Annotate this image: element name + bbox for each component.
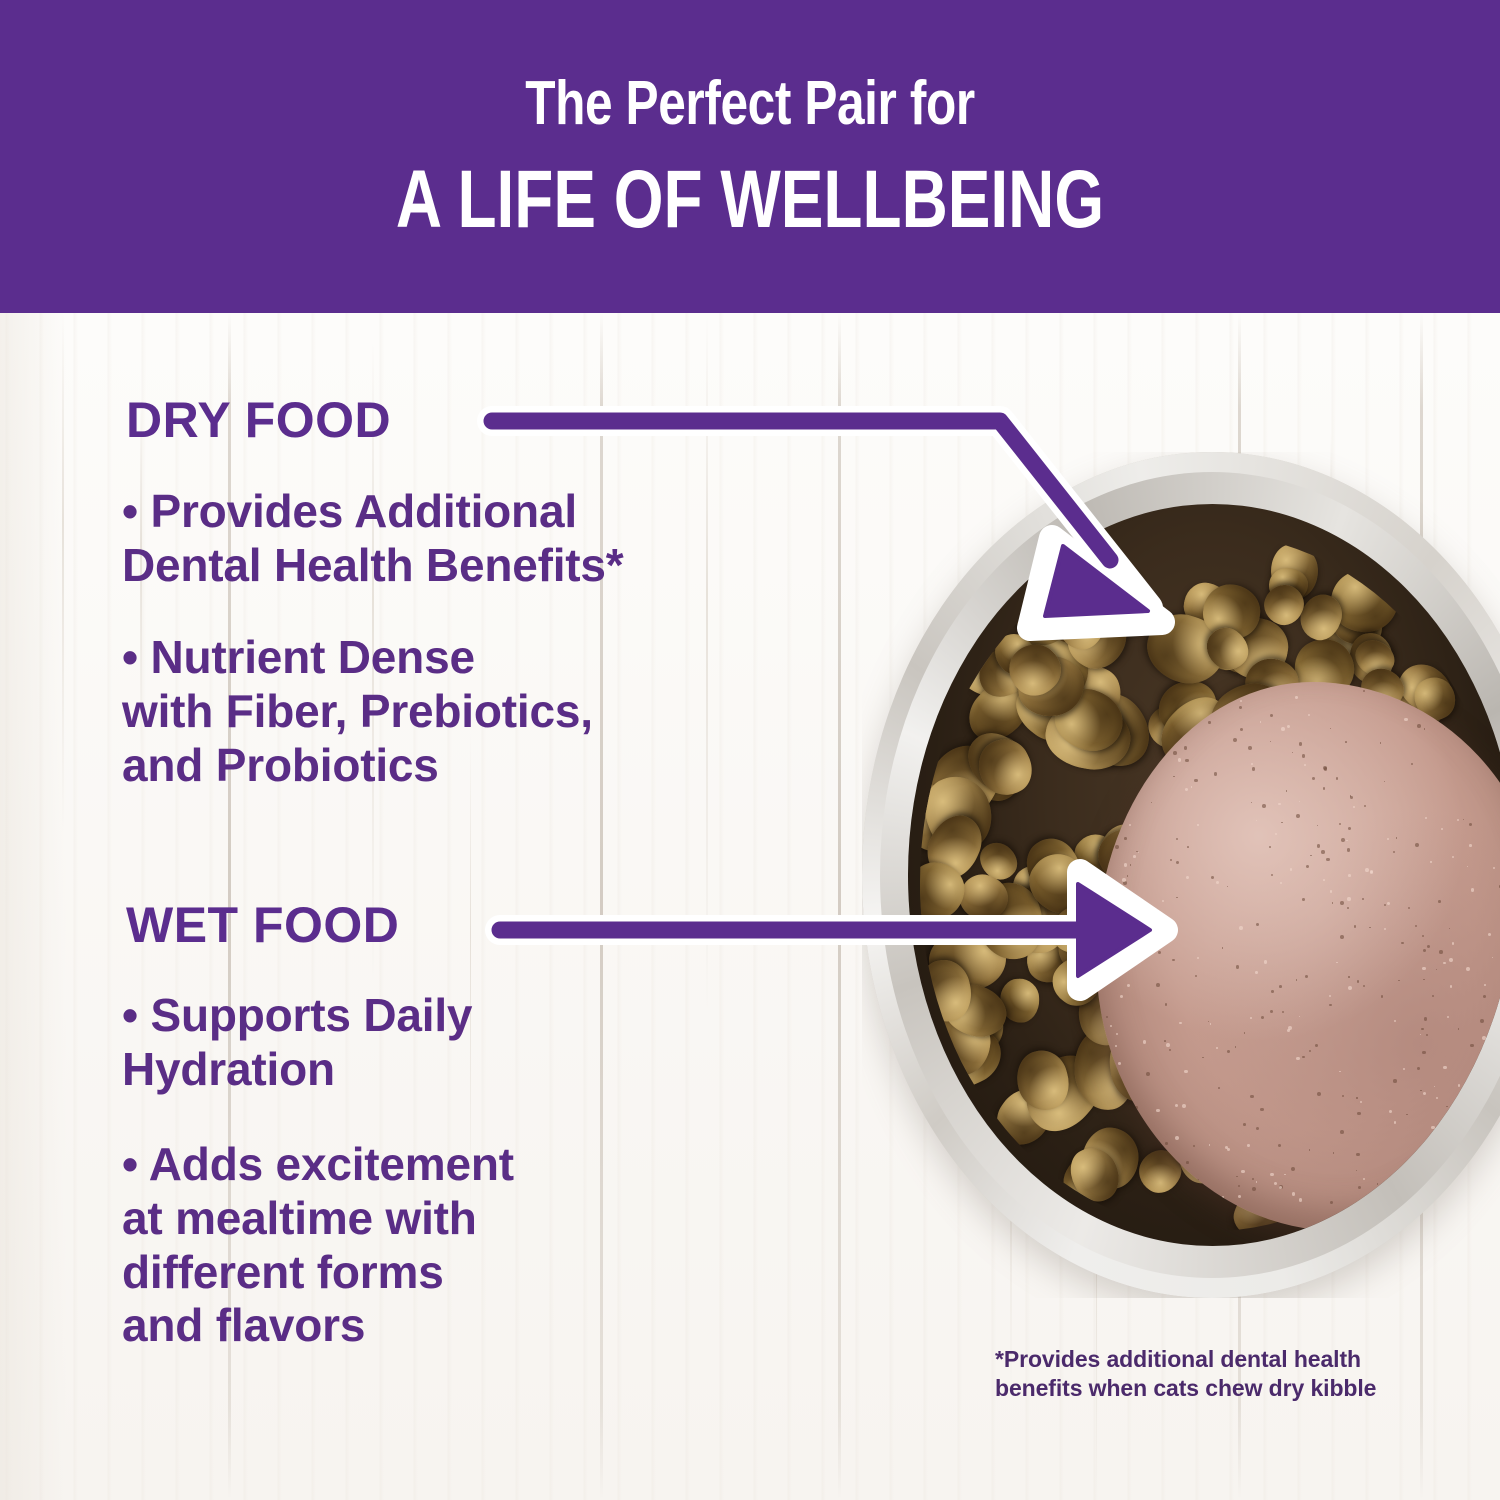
pate-texture-speck [1186,1161,1189,1164]
pate-texture-speck [1441,828,1443,830]
pate-texture-speck [1250,1017,1252,1019]
pate-texture-speck [1098,970,1100,972]
pate-texture-speck [1271,990,1274,993]
pate-texture-speck [1286,790,1288,792]
pate-texture-speck [1281,822,1282,823]
pate-texture-speck [1471,888,1475,892]
pate-texture-speck [1115,845,1119,849]
pate-texture-speck [1175,1104,1179,1108]
pate-texture-speck [1473,691,1474,692]
pate-texture-speck [1288,1026,1292,1030]
pate-texture-speck [1348,976,1349,977]
pate-texture-speck [1345,741,1347,743]
pate-texture-speck [1488,712,1491,715]
pate-texture-speck [1406,1114,1407,1115]
pate-texture-speck [1417,724,1421,728]
pate-texture-speck [1140,732,1142,734]
pate-texture-speck [1480,1190,1483,1193]
pate-texture-speck [1452,856,1454,858]
pate-texture-speck [1278,1144,1281,1147]
pate-texture-speck [1197,1179,1199,1181]
pate-texture-speck [1156,983,1160,987]
pate-texture-speck [1415,843,1419,847]
pate-texture-speck [1484,1218,1486,1220]
pate-texture-speck [1304,764,1306,766]
pate-texture-speck [1115,1045,1117,1047]
pate-texture-speck [1384,904,1386,906]
pate-texture-speck [1477,1058,1478,1059]
pate-texture-speck [1108,799,1111,802]
pate-texture-speck [1210,1023,1212,1025]
pate-texture-speck [1420,1090,1421,1091]
pate-texture-speck [1363,985,1365,987]
pate-texture-speck [1290,868,1292,870]
pate-texture-speck [1411,763,1413,765]
header-line-2: A LIFE OF WELLBEING [396,159,1104,241]
pate-texture-speck [1434,1086,1435,1087]
wet-food-bullet-2-line-2: at mealtime with [122,1192,812,1246]
pate-texture-speck [1358,1186,1361,1189]
pate-texture-speck [1164,1180,1167,1183]
pate-texture-speck [1252,767,1255,770]
pate-texture-speck [1423,1092,1427,1096]
pate-texture-speck [1132,742,1135,745]
pate-texture-speck [1425,817,1427,819]
pate-texture-speck [1341,838,1345,842]
pate-texture-speck [1315,1044,1319,1048]
wet-food-bullet-2-line-1: • Adds excitement [122,1138,812,1192]
pate-texture-speck [1480,1019,1484,1023]
pate-texture-speck [1275,833,1277,835]
pate-texture-speck [1208,1021,1210,1023]
pate-texture-speck [1443,962,1446,965]
pate-texture-speck [1364,805,1366,807]
pate-texture-speck [1306,865,1309,868]
header-line-1: The Perfect Pair for [525,73,975,135]
pate-texture-speck [1159,944,1161,946]
pate-texture-speck [1274,1182,1277,1185]
pate-texture-speck [1165,1142,1168,1145]
pate-texture-speck [1248,746,1252,750]
pate-texture-speck [1422,1051,1426,1055]
pate-texture-speck [1133,855,1136,858]
pate-texture-speck [1185,759,1189,763]
pate-texture-speck [1218,1087,1220,1089]
pate-texture-speck [1449,928,1451,930]
pate-texture-speck [1264,960,1267,963]
pate-texture-speck [1211,876,1214,879]
pate-texture-speck [1357,1112,1360,1115]
pate-texture-speck [1336,777,1339,780]
pate-texture-speck [1469,844,1472,847]
pate-texture-speck [1165,1003,1168,1006]
pate-texture-speck [1256,1181,1258,1183]
pate-texture-speck [1235,1046,1236,1047]
pate-texture-speck [1387,838,1389,840]
pate-texture-speck [1124,807,1128,811]
wet-food-bullet-2-line-4: and flavors [122,1299,812,1353]
pate-texture-speck [1176,897,1178,899]
dry-food-bullet-1-line-1: • Provides Additional [122,485,812,539]
pate-texture-speck [1492,957,1493,958]
pate-texture-speck [1111,959,1114,962]
pate-texture-speck [1369,927,1370,928]
pate-texture-speck [1158,951,1161,954]
pate-texture-speck [1423,979,1425,981]
pate-texture-speck [1299,1016,1300,1017]
pate-texture-speck [1292,752,1294,754]
pate-texture-speck [1396,837,1397,838]
pate-texture-speck [1121,729,1125,733]
pate-texture-speck [1393,851,1395,853]
pate-texture-speck [1261,1016,1264,1019]
pate-texture-speck [1252,1187,1256,1191]
pate-texture-speck [1340,901,1344,905]
section-title-wet-food: WET FOOD [126,900,399,950]
pate-texture-speck [1243,1123,1246,1126]
pate-texture-speck [1227,1050,1230,1053]
pate-texture-speck [1363,1178,1365,1180]
pate-texture-speck [1227,886,1229,888]
pate-texture-speck [1281,727,1285,731]
pate-texture-speck [1347,907,1349,909]
pate-texture-speck [1227,1148,1230,1151]
pate-texture-speck [1103,862,1105,864]
pate-texture-speck [1317,1092,1321,1096]
pate-texture-speck [1284,1174,1286,1176]
pate-texture-speck [1197,824,1198,825]
pate-texture-speck [1370,871,1373,874]
pate-texture-speck [1363,690,1365,692]
pate-texture-speck [1252,1178,1254,1180]
pate-texture-speck [1347,897,1351,901]
pate-texture-speck [1450,985,1453,988]
pate-texture-speck [1449,958,1453,962]
pate-texture-speck [1173,776,1175,778]
pate-texture-speck [1317,844,1321,848]
pate-texture-speck [1424,1017,1427,1020]
pate-texture-speck [1182,1104,1186,1108]
wet-food-bullet-2-line-3: different forms [122,1246,812,1300]
pate-texture-speck [1125,1205,1128,1208]
pate-texture-speck [1339,1071,1341,1073]
pate-texture-speck [1354,925,1356,927]
pate-texture-speck [1296,814,1300,818]
pate-texture-speck [1389,1110,1392,1113]
pate-texture-speck [1176,838,1178,840]
benefits-copy-column: DRY FOOD • Provides Additional Dental He… [0,313,860,1500]
pate-texture-speck [1455,1114,1457,1116]
pate-texture-speck [1415,925,1417,927]
dry-food-bullet-2-line-2: with Fiber, Prebiotics, [122,685,812,739]
pate-texture-speck [1175,1136,1179,1140]
pate-texture-speck [1187,846,1189,848]
pate-texture-speck [1326,858,1329,861]
pate-texture-speck [1186,876,1189,879]
pate-texture-speck [1422,935,1424,937]
pate-texture-speck [1463,819,1464,820]
pate-texture-speck [1342,1095,1344,1097]
pate-texture-speck [1172,959,1174,961]
pate-texture-speck [1340,935,1344,939]
pate-texture-speck [1442,719,1445,722]
dry-food-bullet-2-line-3: and Probiotics [122,739,812,793]
pate-texture-speck [1443,1066,1447,1070]
pate-texture-speck [1346,840,1347,841]
pate-texture-speck [1176,861,1179,864]
pate-texture-speck [1179,1022,1182,1025]
pate-texture-speck [1147,917,1149,919]
pate-texture-speck [1302,1056,1305,1059]
pate-texture-speck [1164,1040,1166,1042]
pate-texture-speck [1209,1144,1211,1146]
pate-texture-speck [1398,980,1399,981]
pate-texture-speck [1485,1083,1489,1087]
pate-texture-speck [1256,1127,1259,1130]
pate-texture-speck [1426,1034,1428,1036]
pate-texture-speck [1308,714,1310,716]
pate-texture-speck [1493,755,1494,756]
pate-texture-speck [1195,975,1197,977]
pate-texture-speck [1340,1130,1344,1134]
pate-texture-speck [1458,1028,1460,1030]
pate-texture-speck [1332,902,1334,904]
wet-food-bullet-2: • Adds excitement at mealtime with diffe… [122,1138,812,1353]
dry-food-bullet-1: • Provides Additional Dental Health Bene… [122,485,812,593]
pate-texture-speck [1178,758,1181,761]
pate-texture-speck [1469,823,1472,826]
pate-texture-speck [1116,1203,1119,1206]
pate-texture-speck [1431,1126,1434,1129]
pate-texture-speck [1112,1207,1113,1208]
pate-texture-speck [1436,1097,1438,1099]
pate-texture-speck [1295,696,1297,698]
pate-texture-speck [1201,1218,1205,1222]
pate-texture-speck [1239,706,1242,709]
pate-texture-speck [1156,1109,1159,1112]
pate-texture-speck [1421,1028,1423,1030]
pate-texture-speck [1244,1032,1246,1034]
pate-texture-speck [1202,1057,1203,1058]
pate-texture-speck [1493,867,1495,869]
pate-texture-speck [1302,898,1305,901]
pate-texture-speck [1127,984,1130,987]
pate-texture-speck [1233,1225,1235,1227]
footnote-line-1: *Provides additional dental health [995,1345,1415,1374]
pate-texture-speck [1439,950,1443,954]
pate-texture-speck [1353,806,1355,808]
pate-texture-speck [1401,942,1404,945]
pate-texture-speck [1466,967,1470,971]
pate-texture-speck [1256,820,1257,821]
pate-texture-speck [1106,1016,1108,1018]
bowl-shape [862,452,1500,1298]
pate-texture-speck [1457,819,1459,821]
pate-texture-speck [1423,949,1426,952]
pate-texture-speck [1270,1173,1274,1177]
pate-texture-speck [1105,820,1106,821]
pate-texture-speck [1134,768,1136,770]
pate-texture-speck [1247,1144,1250,1147]
pate-texture-speck [1135,932,1136,933]
pate-texture-speck [1446,1106,1447,1107]
pate-texture-speck [1206,1224,1208,1226]
pate-texture-speck [1169,1049,1171,1051]
pate-texture-speck [1101,963,1103,965]
pate-texture-speck [1236,965,1239,968]
pate-texture-speck [1360,1101,1362,1103]
pate-texture-speck [1348,986,1352,990]
pate-texture-speck [1467,866,1468,867]
pate-texture-speck [1260,721,1261,722]
pate-texture-speck [1240,700,1242,702]
pate-texture-speck [1138,852,1139,853]
pate-texture-speck [1329,995,1331,997]
pate-texture-speck [1323,879,1325,881]
pate-texture-speck [1299,742,1303,746]
pate-texture-speck [1130,864,1131,865]
pate-texture-speck [1241,690,1244,693]
pate-texture-speck [1135,1106,1138,1109]
bowl-interior [908,504,1500,1245]
pate-texture-speck [1488,933,1491,936]
pate-texture-speck [1452,942,1455,945]
pate-texture-speck [1102,697,1106,701]
pate-texture-speck [1184,746,1188,750]
pate-texture-speck [1348,827,1351,830]
pate-texture-speck [1271,874,1273,876]
pate-texture-speck [1393,1079,1397,1083]
pate-texture-speck [1129,711,1132,714]
pate-texture-speck [1399,1188,1401,1190]
footnote-line-2: benefits when cats chew dry kibble [995,1374,1415,1403]
pate-texture-speck [1150,730,1152,732]
pate-texture-speck [1193,1145,1195,1147]
pate-texture-speck [1445,1223,1449,1227]
pate-texture-speck [1236,1176,1237,1177]
pate-texture-speck [1175,702,1179,706]
pate-texture-speck [1384,781,1385,782]
pate-texture-speck [1339,823,1341,825]
pate-texture-speck [1284,1227,1287,1230]
pate-texture-speck [1356,1097,1357,1098]
pate-texture-speck [1213,1227,1215,1229]
pate-texture-speck [1173,751,1177,755]
pate-texture-speck [1143,1040,1146,1043]
pate-texture-speck [1321,850,1325,854]
pate-texture-speck [1424,728,1426,730]
pate-texture-speck [1310,855,1311,856]
pate-texture-speck [1427,945,1430,948]
pate-texture-speck [1347,848,1350,851]
pate-texture-speck [1123,1162,1125,1164]
pate-texture-speck [1330,1201,1333,1204]
pate-texture-speck [1362,898,1364,900]
pate-texture-speck [1430,861,1431,862]
wet-food-bullet-1-line-2: Hydration [122,1043,812,1097]
pate-texture-speck [1262,804,1266,808]
pate-texture-speck [1329,1223,1332,1226]
pate-texture-speck [1260,1108,1263,1111]
pate-texture-speck [1116,752,1118,754]
pate-texture-speck [1296,979,1298,981]
dry-food-bullet-1-line-2: Dental Health Benefits* [122,539,812,593]
wet-food-bullet-1: • Supports Daily Hydration [122,989,812,1097]
pate-texture-speck [1420,1034,1421,1035]
pate-texture-speck [1114,789,1115,790]
pate-texture-speck [1166,1043,1170,1047]
pate-texture-speck [1291,1167,1295,1171]
poster-canvas: The Perfect Pair for A LIFE OF WELLBEING [0,0,1500,1500]
pate-texture-speck [1282,1011,1284,1013]
pate-texture-speck [1155,909,1157,911]
pate-texture-speck [1256,923,1259,926]
pate-texture-speck [1216,881,1219,884]
pate-texture-speck [1384,928,1386,930]
pate-texture-speck [1356,1170,1357,1171]
pate-texture-speck [1417,1067,1420,1070]
pate-texture-speck [1490,1124,1493,1127]
pate-texture-speck [1233,738,1237,742]
pate-texture-speck [1348,874,1351,877]
pate-texture-speck [1438,900,1441,903]
pate-texture-speck [1403,1068,1405,1070]
pate-texture-speck [1270,1010,1273,1013]
pate-texture-speck [1239,926,1243,930]
pate-texture-speck [1133,720,1136,723]
pate-texture-speck [1112,1082,1113,1083]
pate-texture-speck [1214,772,1218,776]
section-title-dry-food: DRY FOOD [126,395,391,445]
pate-texture-speck [1336,962,1338,964]
pate-texture-speck [1365,868,1369,872]
pate-texture-speck [1431,1141,1432,1142]
pate-texture-speck [1324,767,1328,771]
pate-texture-speck [1404,718,1408,722]
pate-texture-speck [1394,1121,1396,1123]
pate-texture-speck [1484,984,1486,986]
dry-food-bullet-2-line-1: • Nutrient Dense [122,631,812,685]
pate-texture-speck [1381,995,1384,998]
pate-texture-speck [1287,725,1290,728]
pate-texture-speck [1408,907,1410,909]
pate-texture-speck [1241,1170,1244,1173]
pate-texture-speck [1131,924,1134,927]
pate-texture-speck [1116,1033,1118,1035]
pate-texture-speck [1414,1198,1416,1200]
pate-texture-speck [1129,824,1131,826]
pate-texture-speck [1269,846,1271,848]
pate-texture-speck [1432,995,1435,998]
pate-texture-speck [1120,995,1123,998]
footnote: *Provides additional dental health benef… [995,1345,1415,1402]
pate-texture-speck [1124,837,1127,840]
pate-texture-speck [1305,975,1308,978]
pate-texture-speck [1427,705,1431,709]
pate-texture-speck [1115,1196,1118,1199]
pate-texture-speck [1415,1173,1417,1175]
pate-texture-speck [1447,1016,1449,1018]
pate-texture-speck [1162,900,1164,902]
pate-texture-speck [1330,890,1332,892]
pate-texture-speck [1255,971,1258,974]
pate-texture-speck [1329,1004,1332,1007]
pate-texture-speck [1380,1208,1381,1209]
pate-texture-speck [1309,1149,1311,1151]
pate-texture-speck [1436,1140,1440,1144]
pate-texture-speck [1317,825,1319,827]
pate-texture-speck [1122,878,1126,882]
